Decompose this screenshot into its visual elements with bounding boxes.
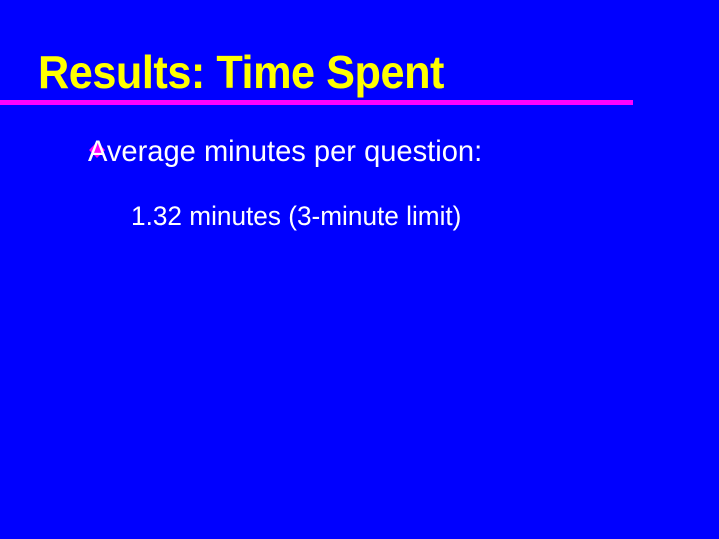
sub-item-label: 1.32 minutes (3-minute limit) [131,195,461,237]
list-item-sub: 1.32 minutes (3-minute limit) [0,195,719,237]
title-divider-rule [0,100,633,105]
bullet-item-label: Average minutes per question: [88,130,482,174]
page-title: Results: Time Spent [38,47,640,97]
list-item: Average minutes per question: [0,130,719,174]
presentation-slide: Results: Time Spent Average minutes per … [0,0,719,539]
slide-body: Average minutes per question: 1.32 minut… [0,130,719,237]
